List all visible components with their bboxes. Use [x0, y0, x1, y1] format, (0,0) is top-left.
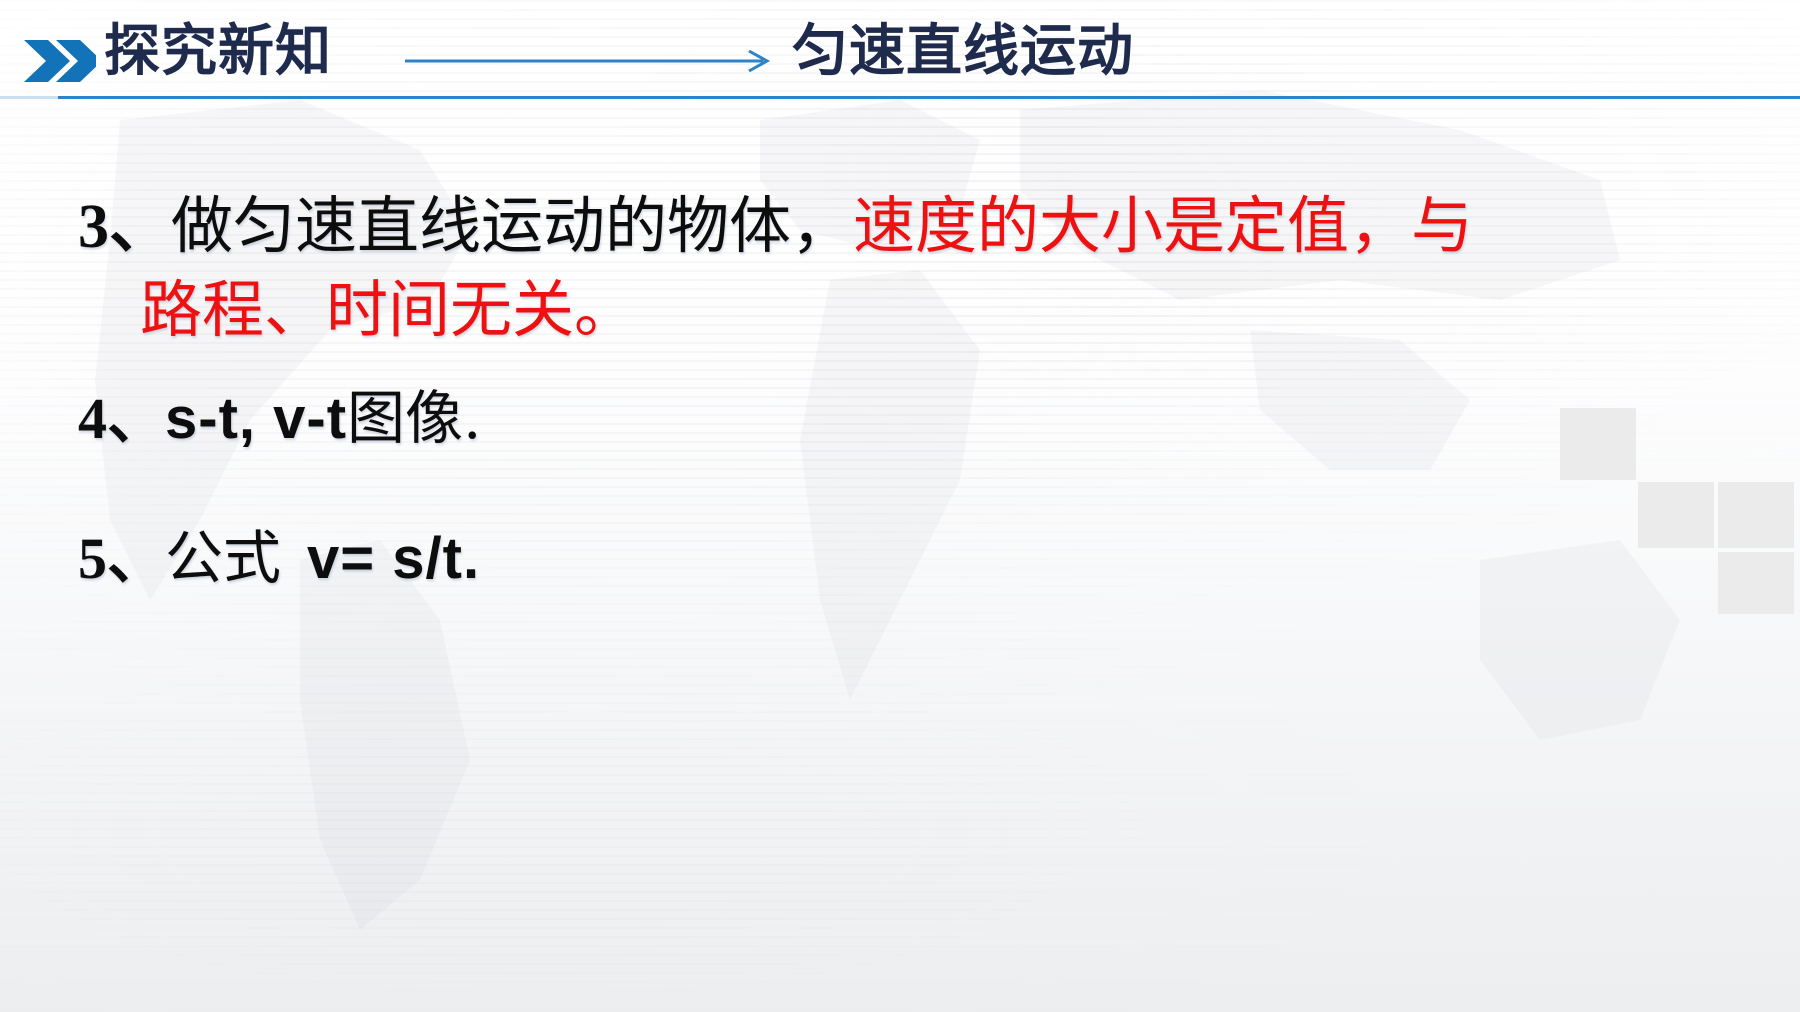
- double-chevron-icon: [22, 38, 96, 84]
- arrow-right-icon: [405, 46, 780, 76]
- texture-lines-tertiary: [0, 0, 1800, 1012]
- list-item-5-formula: v= s/t.: [307, 526, 480, 591]
- decorative-square-2: [1638, 482, 1714, 548]
- header-divider: [58, 96, 1800, 99]
- list-item-5-cjk-text: 公式: [165, 524, 281, 592]
- header-divider-left: [0, 96, 58, 99]
- list-item-4-latin-text: s-t, v-t: [165, 386, 347, 451]
- decorative-square-4: [1718, 552, 1794, 614]
- list-item-3-line-1: 3、做匀速直线运动的物体，速度的大小是定值，与: [78, 188, 1473, 265]
- header-subtitle: 匀速直线运动: [792, 16, 1134, 86]
- decorative-square-1: [1560, 408, 1636, 480]
- decorative-square-3: [1718, 482, 1794, 548]
- decorative-squares: [1560, 400, 1800, 600]
- list-item-3-red-text-line-1: 速度的大小是定值，与: [853, 189, 1473, 262]
- page-title: 探究新知: [104, 16, 332, 86]
- texture-lines-secondary: [0, 0, 1800, 1012]
- background-watermark: [0, 0, 1800, 1012]
- list-item-5: 5、公式v= s/t.: [78, 522, 480, 595]
- list-item-5-number: 5、: [78, 526, 165, 591]
- list-item-4-cjk-text: 图像.: [347, 384, 481, 452]
- world-map-watermark-icon: [0, 0, 1800, 1012]
- list-item-4: 4、s-t, v-t图像.: [78, 382, 481, 455]
- slide-canvas: 探究新知 匀速直线运动 3、做匀速直线运动的物体，速度的大小是定值，与 路程、时…: [0, 0, 1800, 1012]
- list-item-4-number: 4、: [78, 386, 165, 451]
- texture-lines-primary: [0, 0, 1800, 1012]
- slide-header: 探究新知 匀速直线运动: [0, 0, 1800, 100]
- list-item-3-number: 3、: [78, 193, 171, 261]
- list-item-3-black-text: 做匀速直线运动的物体，: [171, 189, 853, 262]
- list-item-3-red-text-line-2: 路程、时间无关。: [140, 273, 636, 346]
- list-item-3-line-2: 路程、时间无关。: [140, 272, 636, 348]
